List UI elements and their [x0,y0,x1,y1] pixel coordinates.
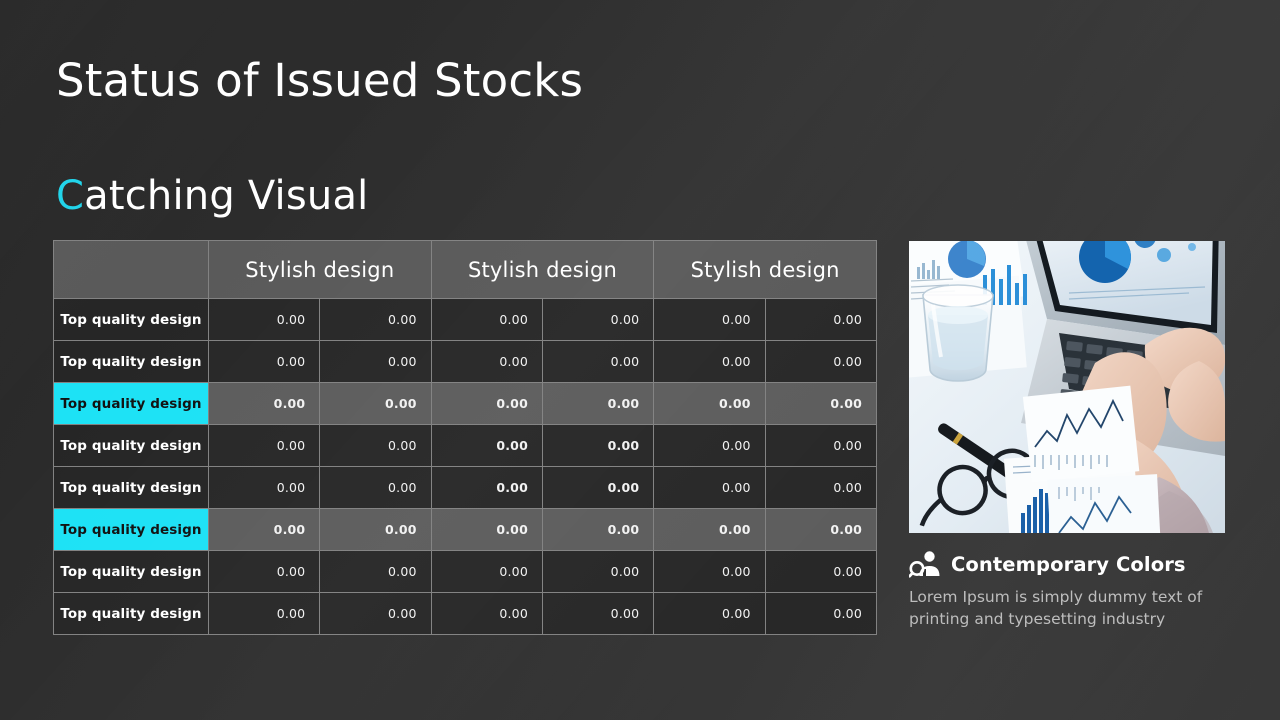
table-cell: 0.00 [431,341,542,383]
table-cell: 0.00 [209,509,320,551]
subtitle-accent-letter: C [56,173,84,219]
table-cell: 0.00 [542,383,653,425]
table-cell: 0.00 [209,341,320,383]
user-search-icon [909,550,941,578]
table-cell: 0.00 [209,425,320,467]
table-cell: 0.00 [765,467,876,509]
page-title: Status of Issued Stocks [56,56,583,106]
table-row: Top quality design0.000.000.000.000.000.… [54,425,877,467]
table-row: Top quality design0.000.000.000.000.000.… [54,551,877,593]
table-row: Top quality design0.000.000.000.000.000.… [54,467,877,509]
table-header-row: Stylish design Stylish design Stylish de… [54,241,877,299]
table-cell: 0.00 [654,551,765,593]
subtitle-rest: atching Visual [84,173,368,219]
table-row: Top quality design0.000.000.000.000.000.… [54,593,877,635]
column-group-header-3: Stylish design [654,241,877,299]
row-label: Top quality design [54,341,209,383]
business-desk-laptop-charts-photo [909,241,1225,533]
table-cell: 0.00 [209,593,320,635]
page-subtitle: Catching Visual [56,174,368,218]
table-cell: 0.00 [320,425,431,467]
table-cell: 0.00 [209,299,320,341]
caption-body: Lorem Ipsum is simply dummy text of prin… [909,586,1239,630]
row-label: Top quality design [54,425,209,467]
caption-row: Contemporary Colors [909,550,1225,578]
table-body: Top quality design0.000.000.000.000.000.… [54,299,877,635]
row-label: Top quality design [54,299,209,341]
table-cell: 0.00 [542,551,653,593]
table-cell: 0.00 [654,425,765,467]
table-row: Top quality design0.000.000.000.000.000.… [54,383,877,425]
table-cell: 0.00 [654,341,765,383]
table-head: Stylish design Stylish design Stylish de… [54,241,877,299]
table-cell: 0.00 [765,341,876,383]
table-cell: 0.00 [765,425,876,467]
table-cell: 0.00 [654,593,765,635]
table-cell: 0.00 [542,593,653,635]
row-label: Top quality design [54,593,209,635]
table-cell: 0.00 [320,467,431,509]
table-cell: 0.00 [765,593,876,635]
table-cell: 0.00 [209,467,320,509]
row-label: Top quality design [54,383,209,425]
table-cell: 0.00 [320,341,431,383]
table-cell: 0.00 [431,593,542,635]
table-cell: 0.00 [320,509,431,551]
table-cell: 0.00 [765,383,876,425]
table-row: Top quality design0.000.000.000.000.000.… [54,509,877,551]
table-cell: 0.00 [542,299,653,341]
table-cell: 0.00 [654,383,765,425]
table-cell: 0.00 [209,551,320,593]
table-cell: 0.00 [765,299,876,341]
table-cell: 0.00 [765,509,876,551]
table-cell: 0.00 [209,383,320,425]
table-cell: 0.00 [765,551,876,593]
table-cell: 0.00 [542,509,653,551]
slide: Status of Issued Stocks Catching Visual … [0,0,1280,720]
table-cell: 0.00 [654,467,765,509]
table-row: Top quality design0.000.000.000.000.000.… [54,341,877,383]
table-cell: 0.00 [654,509,765,551]
table-cell: 0.00 [431,299,542,341]
table-cell: 0.00 [320,299,431,341]
data-table: Stylish design Stylish design Stylish de… [53,240,877,635]
table-cell: 0.00 [431,467,542,509]
caption-title: Contemporary Colors [951,553,1186,576]
table-row: Top quality design0.000.000.000.000.000.… [54,299,877,341]
table-cell: 0.00 [542,425,653,467]
table-cell: 0.00 [431,551,542,593]
row-label: Top quality design [54,509,209,551]
row-label: Top quality design [54,467,209,509]
table-cell: 0.00 [320,383,431,425]
table-cell: 0.00 [431,425,542,467]
table-cell: 0.00 [542,341,653,383]
table-cell: 0.00 [320,551,431,593]
table-cell: 0.00 [431,383,542,425]
data-table-container: Stylish design Stylish design Stylish de… [53,240,877,635]
table-cell: 0.00 [542,467,653,509]
side-panel: Contemporary Colors Lorem Ipsum is simpl… [909,241,1225,630]
column-group-header-2: Stylish design [431,241,654,299]
row-label: Top quality design [54,551,209,593]
table-cell: 0.00 [431,509,542,551]
table-cell: 0.00 [320,593,431,635]
table-corner-cell [54,241,209,299]
column-group-header-1: Stylish design [209,241,432,299]
table-cell: 0.00 [654,299,765,341]
